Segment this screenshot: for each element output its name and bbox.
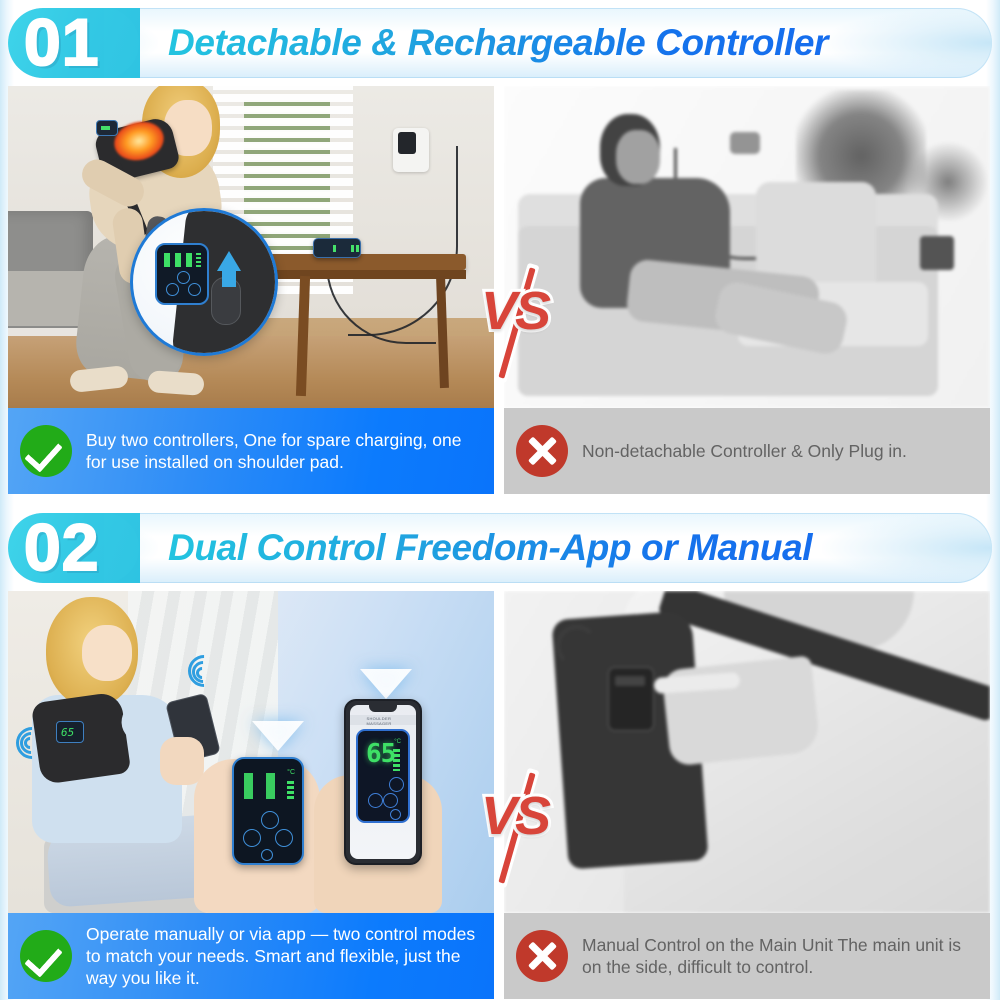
controller-heat-button bbox=[275, 829, 293, 847]
pad-display: 65 bbox=[56, 721, 84, 743]
app-temperature-unit: °C bbox=[394, 739, 401, 745]
woman-hand bbox=[160, 737, 204, 785]
section-02-photo-row: 65 °C bbox=[8, 591, 992, 913]
insert-arrow-icon bbox=[217, 251, 241, 271]
detail-zoom-bubble bbox=[130, 208, 278, 356]
app-temperature-value: 65 bbox=[366, 741, 395, 767]
pad-display-value: 65 bbox=[61, 727, 74, 738]
plant-pot bbox=[920, 236, 954, 270]
down-arrow-icon-controller bbox=[252, 721, 304, 751]
man-face bbox=[616, 130, 660, 184]
section-02-good-photo: 65 °C bbox=[8, 591, 494, 913]
controller-unit-label: °C bbox=[287, 769, 295, 776]
section-02-good-text: Operate manually or via app — two contro… bbox=[86, 923, 482, 989]
smartphone-app: SHOULDER MASSAGER 65 °C bbox=[344, 699, 422, 865]
app-control-card: 65 °C bbox=[356, 729, 410, 823]
app-extra-button[interactable] bbox=[390, 809, 401, 820]
controller-mode-button bbox=[166, 283, 179, 296]
spare-controller-charging bbox=[313, 238, 361, 258]
x-icon bbox=[516, 930, 568, 982]
controller-heat-button bbox=[188, 283, 201, 296]
hand-reaching bbox=[661, 655, 820, 766]
photo-app-and-manual-control: 65 °C bbox=[8, 591, 494, 913]
app-heat-button[interactable] bbox=[383, 793, 398, 808]
section-01-good-photo bbox=[8, 86, 494, 408]
section-02-banner: 02 Dual Control Freedom-App or Manual bbox=[8, 513, 992, 583]
section-02-good-caption: Operate manually or via app — two contro… bbox=[8, 913, 494, 999]
side-table-top bbox=[266, 254, 466, 270]
controller-segment-display bbox=[244, 773, 288, 799]
phone-screen: SHOULDER MASSAGER 65 °C bbox=[350, 705, 416, 859]
handheld-controller: °C bbox=[232, 757, 304, 865]
controller-level-bars bbox=[196, 253, 201, 268]
section-02-number: 02 bbox=[24, 513, 99, 583]
section-02: 02 Dual Control Freedom-App or Manual 65 bbox=[0, 505, 1000, 913]
insert-arrow-shaft-icon bbox=[222, 269, 236, 287]
photo-hand-reaching-main-unit bbox=[504, 591, 990, 913]
x-icon bbox=[516, 425, 568, 477]
phone-notch bbox=[369, 705, 397, 712]
attached-controller bbox=[96, 120, 118, 136]
controller-bluetooth-button bbox=[261, 849, 273, 861]
controller-power-button bbox=[261, 811, 279, 829]
controller-power-button bbox=[177, 271, 190, 284]
check-icon bbox=[20, 425, 72, 477]
app-title: SHOULDER MASSAGER bbox=[367, 716, 400, 726]
woman-face-seated bbox=[82, 625, 132, 681]
app-power-button[interactable] bbox=[389, 777, 404, 792]
woman-foot-left bbox=[69, 365, 129, 393]
photo-woman-with-spare-controller bbox=[8, 86, 494, 408]
section-01-bad-text: Non-detachable Controller & Only Plug in… bbox=[582, 440, 907, 462]
section-01-good-text: Buy two controllers, One for spare charg… bbox=[86, 429, 482, 473]
section-02-title: Dual Control Freedom-App or Manual bbox=[168, 513, 968, 583]
photo-man-tethered-to-outlet bbox=[504, 86, 990, 408]
section-01-number: 01 bbox=[24, 8, 99, 78]
section-01-title: Detachable & Rechargeable Controller bbox=[168, 8, 968, 78]
check-icon bbox=[20, 930, 72, 982]
section-01-bad-caption: Non-detachable Controller & Only Plug in… bbox=[504, 408, 990, 494]
app-massage-button[interactable] bbox=[368, 793, 383, 808]
detachable-controller-closeup bbox=[155, 243, 209, 305]
woman-foot-right bbox=[147, 370, 204, 396]
infographic-page: 01 Detachable & Rechargeable Controller bbox=[0, 0, 1000, 1000]
app-level-bars bbox=[393, 749, 400, 771]
down-arrow-icon-phone bbox=[360, 669, 412, 699]
section-01-photo-row: VS bbox=[8, 86, 992, 408]
section-02-bad-text: Manual Control on the Main Unit The main… bbox=[582, 934, 978, 978]
brace-cable bbox=[556, 625, 598, 667]
section-02-bad-photo bbox=[504, 591, 990, 913]
app-title-bar: SHOULDER MASSAGER bbox=[350, 715, 416, 725]
section-01-good-caption: Buy two controllers, One for spare charg… bbox=[8, 408, 494, 494]
section-02-bad-caption: Manual Control on the Main Unit The main… bbox=[504, 913, 990, 999]
section-01: 01 Detachable & Rechargeable Controller bbox=[0, 0, 1000, 408]
section-01-bad-photo bbox=[504, 86, 990, 408]
controller-segment-display bbox=[164, 253, 194, 267]
controller-massage-button bbox=[243, 829, 261, 847]
section-01-banner: 01 Detachable & Rechargeable Controller bbox=[8, 8, 992, 78]
controller-level-bars bbox=[287, 781, 294, 801]
main-unit-on-side bbox=[608, 667, 654, 731]
